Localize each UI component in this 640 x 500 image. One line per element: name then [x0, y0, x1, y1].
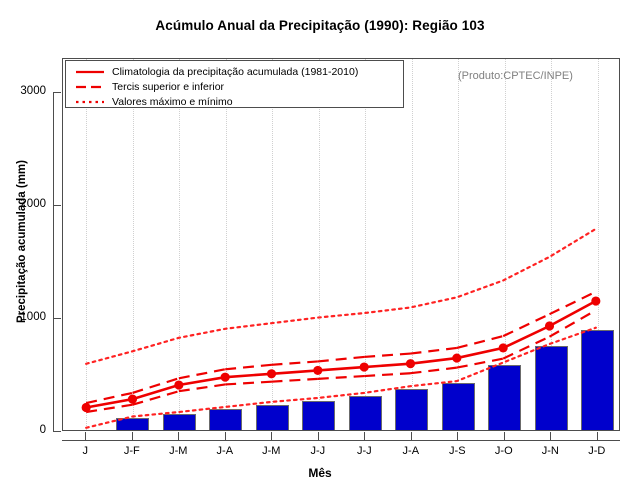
series-line-segment	[225, 382, 271, 385]
series-line-segment	[272, 379, 318, 382]
x-axis-line	[62, 440, 620, 441]
series-line-segment	[457, 336, 503, 348]
x-axis-tick	[597, 432, 598, 440]
data-point-marker	[360, 362, 369, 371]
data-point-marker	[221, 373, 230, 382]
x-axis-tick	[85, 432, 86, 440]
series-line-segment	[318, 376, 364, 379]
legend-item-valores: Valores máximo e mínimo	[66, 95, 403, 109]
legend-item-tercis: Tercis superior e inferior	[66, 80, 403, 94]
chart-page: Acúmulo Anual da Precipitação (1990): Re…	[0, 0, 640, 500]
x-axis-tick	[457, 432, 458, 440]
plot-area	[62, 58, 620, 431]
x-axis-tick	[550, 432, 551, 440]
legend-item-climatologia: Climatologia da precipitação acumulada (…	[66, 65, 403, 79]
series-line-segment	[272, 361, 318, 364]
series-line-segment	[503, 337, 549, 359]
series-line-segment	[133, 378, 179, 393]
plot-inner	[63, 59, 619, 430]
y-axis-tick	[53, 205, 61, 206]
series-line	[86, 229, 596, 364]
data-point-marker	[499, 343, 508, 352]
line-series-overlay	[63, 59, 619, 430]
y-axis-tick-label: 3000	[0, 85, 46, 97]
data-point-marker	[406, 359, 415, 368]
data-point-marker	[128, 395, 137, 404]
y-axis-tick	[53, 318, 61, 319]
legend-label: Tercis superior e inferior	[112, 81, 224, 93]
legend-label: Climatologia da precipitação acumulada (…	[112, 66, 358, 78]
page-title: Acúmulo Anual da Precipitação (1990): Re…	[0, 18, 640, 33]
legend-label: Valores máximo e mínimo	[112, 96, 233, 108]
product-annotation: (Produto:CPTEC/INPE)	[458, 70, 573, 82]
data-point-marker	[591, 296, 600, 305]
series-line-segment	[550, 292, 596, 314]
series-line	[86, 301, 596, 407]
y-axis-tick	[53, 92, 61, 93]
data-point-marker	[174, 380, 183, 389]
legend-dashed-line-icon	[74, 81, 106, 93]
y-axis-label: Precipitação acumulada (mm)	[16, 160, 28, 323]
legend-solid-line-icon	[74, 66, 106, 78]
x-axis-tick	[504, 432, 505, 440]
y-axis-tick	[53, 431, 61, 432]
y-axis-tick-label: 0	[0, 424, 46, 436]
data-point-marker	[452, 353, 461, 362]
legend-dotted-line-icon	[74, 96, 106, 108]
series-line-segment	[411, 348, 457, 354]
chart-legend: Climatologia da precipitação acumulada (…	[65, 60, 404, 108]
series-line-segment	[225, 365, 271, 369]
series-line-segment	[364, 354, 410, 357]
x-axis-tick	[132, 432, 133, 440]
series-line-segment	[318, 357, 364, 361]
series-line-segment	[179, 384, 225, 391]
data-point-marker	[313, 366, 322, 375]
data-point-marker	[267, 369, 276, 378]
x-axis-tick	[364, 432, 365, 440]
series-line-segment	[179, 369, 225, 378]
x-axis-tick-label: J-D	[567, 445, 627, 457]
series-line-segment	[411, 368, 457, 374]
x-axis-label: Mês	[0, 466, 640, 480]
x-axis-tick	[271, 432, 272, 440]
x-axis-tick	[411, 432, 412, 440]
x-axis-tick	[178, 432, 179, 440]
y-axis-line	[53, 92, 54, 431]
x-axis-tick	[318, 432, 319, 440]
data-point-marker	[545, 321, 554, 330]
series-line-segment	[364, 373, 410, 376]
x-axis-tick	[225, 432, 226, 440]
series-line-segment	[503, 314, 549, 336]
